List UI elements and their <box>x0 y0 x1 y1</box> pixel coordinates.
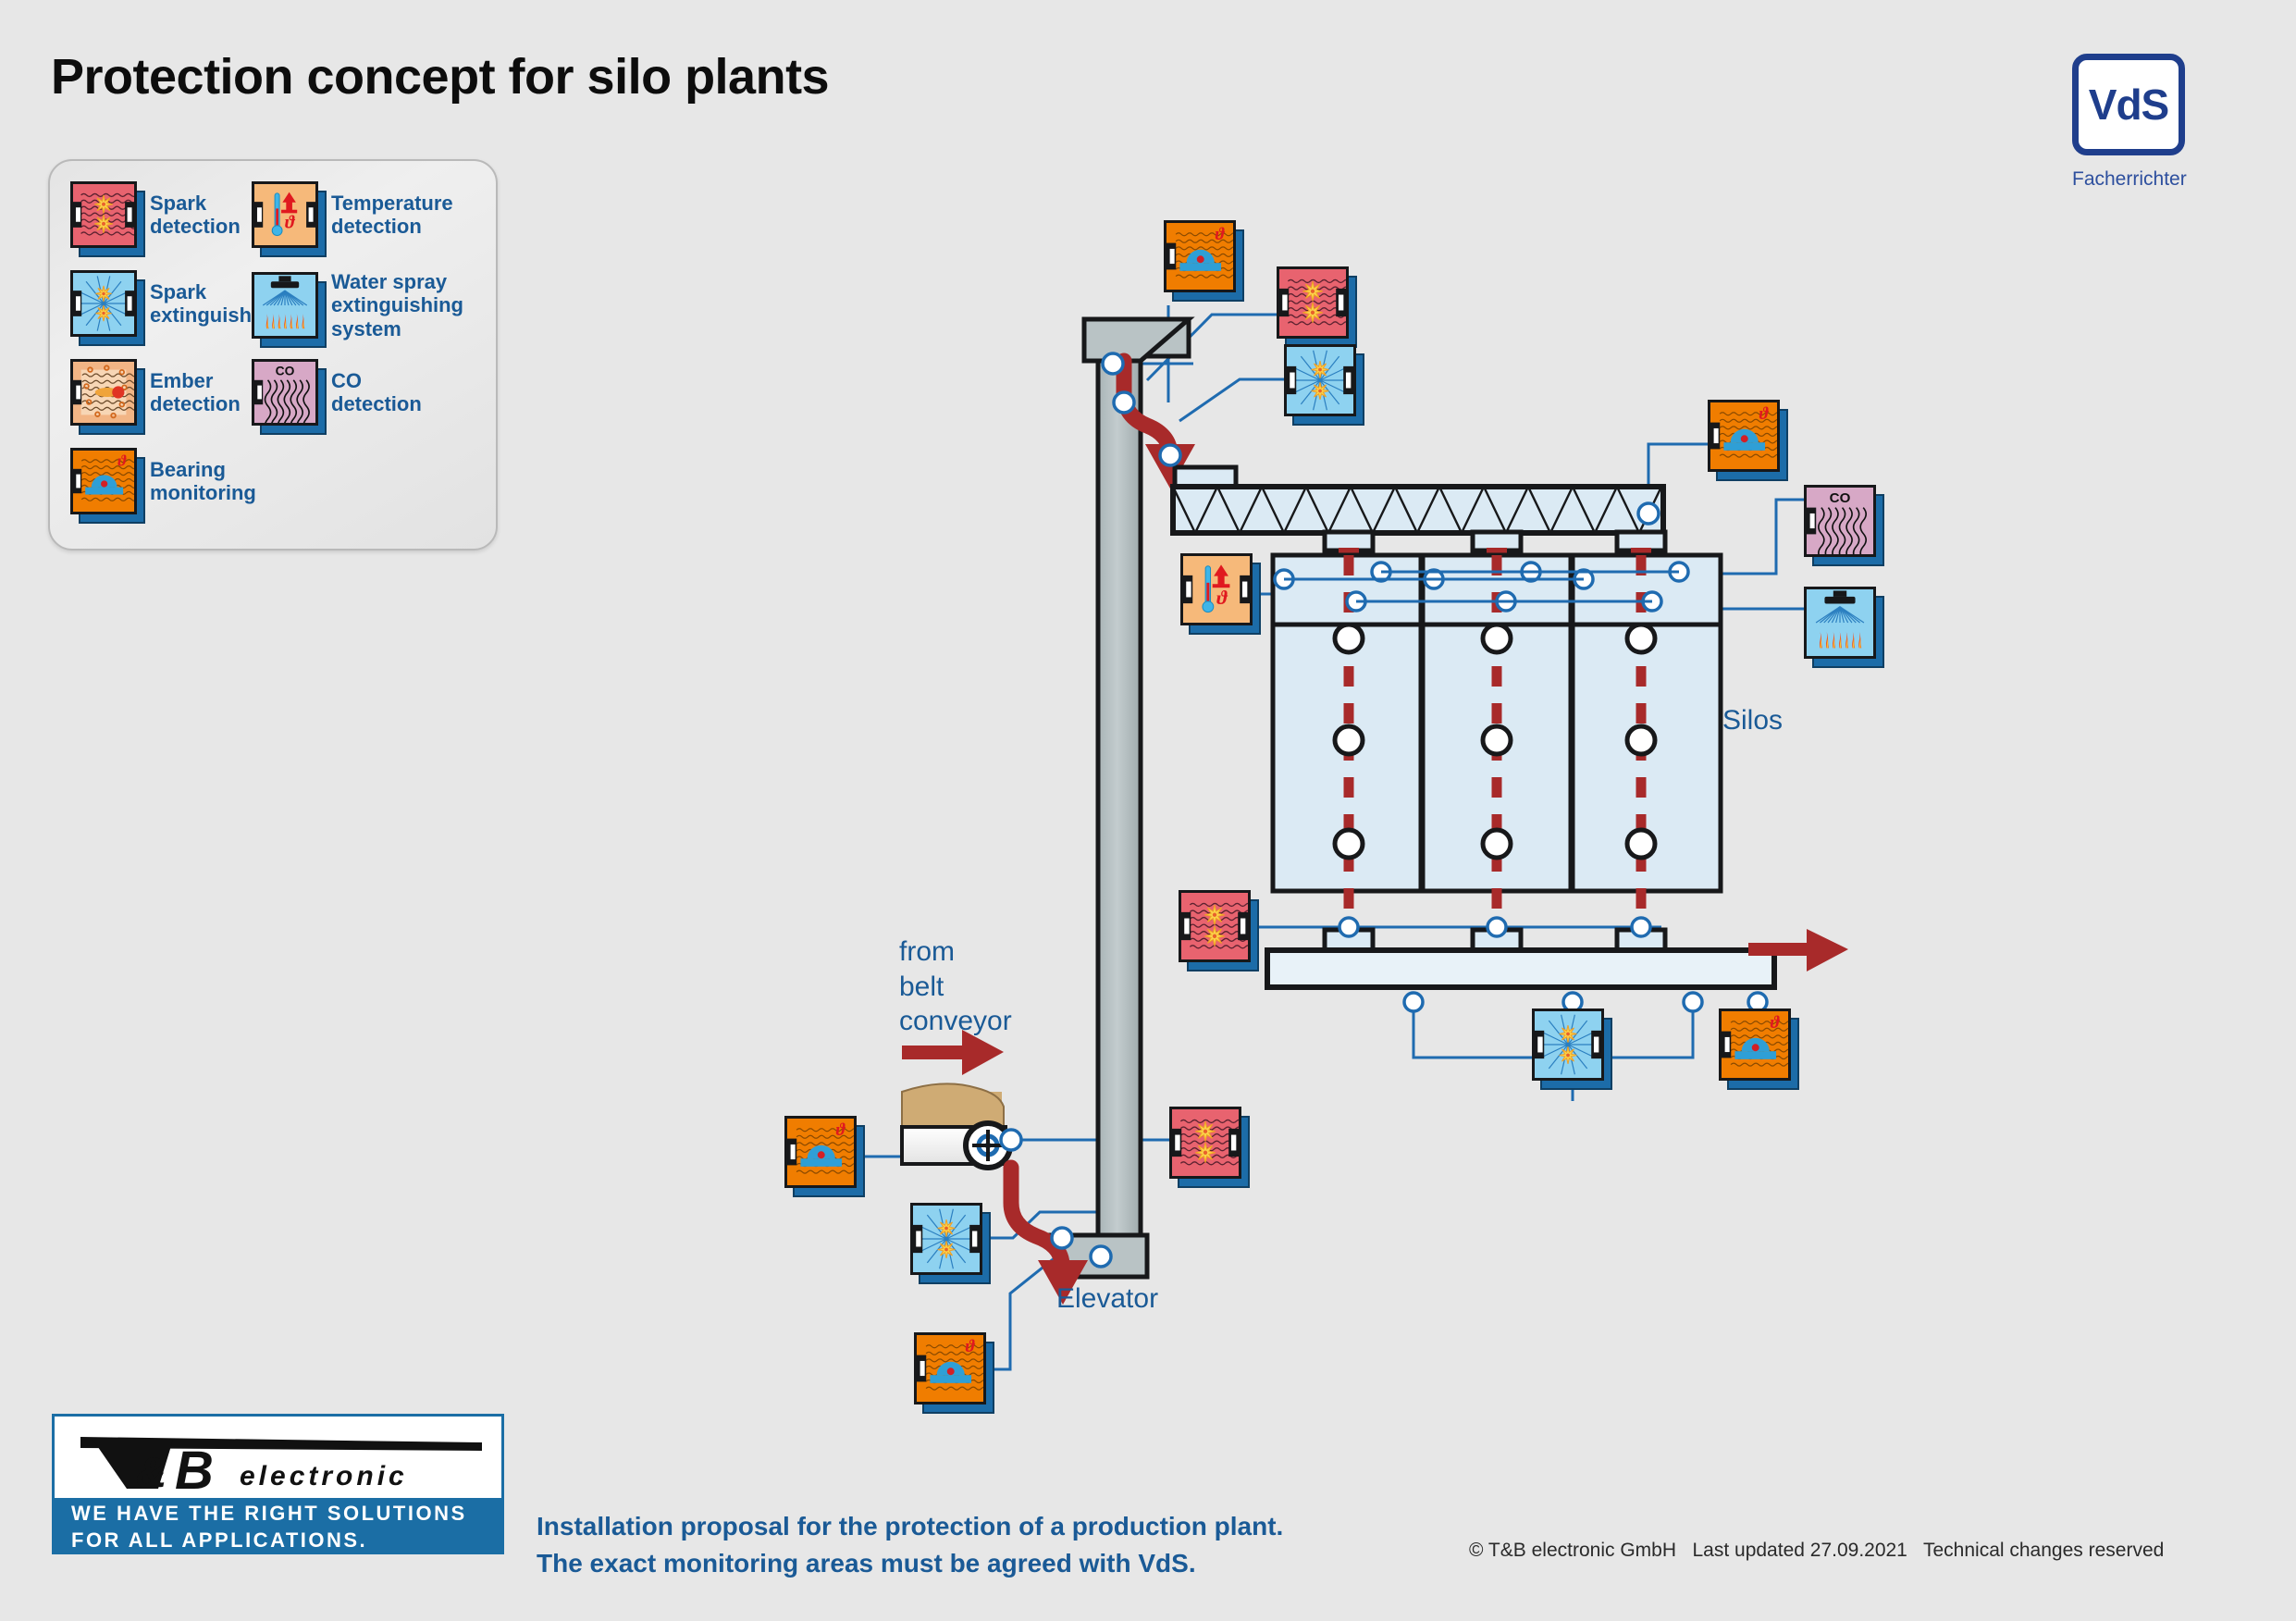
label-from-belt-conveyor: from belt conveyor <box>899 934 1012 1039</box>
svg-text:ϑ: ϑ <box>1216 587 1228 609</box>
top-conveyor <box>1173 467 1665 551</box>
svg-text:ϑ: ϑ <box>836 1120 846 1140</box>
bearing-monitoring-bottom-conveyor: ϑ <box>1719 1008 1791 1081</box>
device-face <box>1277 266 1349 339</box>
device-face: ϑ <box>784 1116 857 1188</box>
device-face: ϑ <box>1708 400 1780 472</box>
bearing-monitoring-elevator-foot: ϑ <box>914 1332 986 1404</box>
device-face <box>1804 587 1876 659</box>
bearing-monitoring-elevator-head: ϑ <box>1164 220 1236 292</box>
spark-detection-bottom-conveyor <box>1179 890 1251 962</box>
device-face: CO <box>1804 485 1876 557</box>
water-spray-extinguishing-silos <box>1804 587 1876 659</box>
device-face <box>1179 890 1251 962</box>
device-face <box>1284 344 1356 416</box>
silo-head-3 <box>1573 555 1721 625</box>
device-face <box>1169 1107 1241 1179</box>
svg-text:ϑ: ϑ <box>966 1337 976 1356</box>
svg-text:CO: CO <box>1830 490 1851 506</box>
elevator-shaft <box>1098 319 1141 1277</box>
spark-extinguishing-elevator-foot <box>910 1203 982 1275</box>
sensor-node <box>1638 503 1659 524</box>
device-face <box>1532 1008 1604 1081</box>
plant-schematic <box>0 0 2296 1621</box>
spark-extinguishing-elevator-head <box>1284 344 1356 416</box>
device-face <box>910 1203 982 1275</box>
belt-conveyor <box>902 1030 1010 1168</box>
svg-text:ϑ: ϑ <box>1771 1013 1781 1033</box>
device-face: ϑ <box>1180 553 1253 625</box>
co-detection-silos: CO <box>1804 485 1876 557</box>
bearing-monitoring-top-conveyor: ϑ <box>1708 400 1780 472</box>
device-face: ϑ <box>1164 220 1236 292</box>
diagram-page: Protection concept for silo plants VdS F… <box>0 0 2296 1621</box>
bearing-monitoring-belt-conveyor: ϑ <box>784 1116 857 1188</box>
label-silos: Silos <box>1722 703 1783 738</box>
flow-wire-nodes <box>1001 353 1180 1267</box>
bottom-conveyor <box>1267 930 1774 1011</box>
device-face: ϑ <box>914 1332 986 1404</box>
spark-detection-elevator-head <box>1277 266 1349 339</box>
elevator-head <box>1084 319 1189 361</box>
temperature-detection-silos: ϑ <box>1180 553 1253 625</box>
svg-text:ϑ: ϑ <box>1759 404 1770 424</box>
device-face: ϑ <box>1719 1008 1791 1081</box>
spark-extinguishing-bottom-conveyor <box>1532 1008 1604 1081</box>
svg-text:ϑ: ϑ <box>1216 225 1226 244</box>
label-elevator: Elevator <box>1056 1281 1158 1317</box>
spark-detection-elevator-foot <box>1169 1107 1241 1179</box>
